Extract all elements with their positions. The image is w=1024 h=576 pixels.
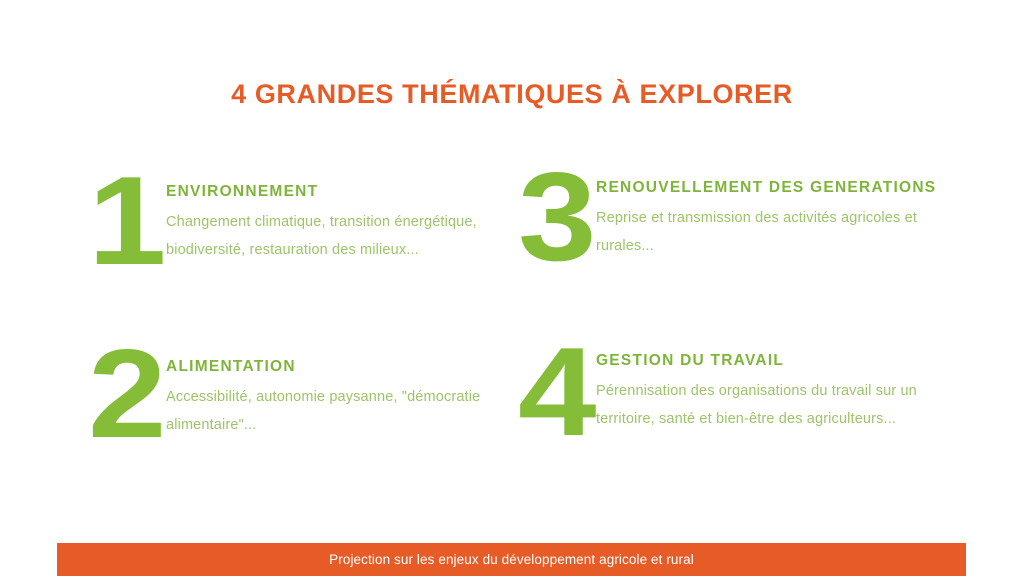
theme-body-4: GESTION DU TRAVAIL Pérennisation des org… [596, 341, 958, 433]
theme-text-2: Accessibilité, autonomie paysanne, "démo… [166, 383, 508, 440]
theme-body-2: ALIMENTATION Accessibilité, autonomie pa… [166, 343, 508, 439]
theme-item-2: 2 ALIMENTATION Accessibilité, autonomie … [88, 343, 508, 443]
theme-number-4: 4 [518, 343, 605, 441]
theme-heading-1: ENVIRONNEMENT [166, 182, 508, 203]
theme-text-1: Changement climatique, transition énergé… [166, 208, 508, 265]
theme-body-3: RENOUVELLEMENT DES GENERATIONS Reprise e… [596, 168, 958, 260]
theme-item-4: 4 GESTION DU TRAVAIL Pérennisation des o… [518, 341, 958, 441]
theme-text-4: Pérennisation des organisations du trava… [596, 377, 958, 434]
footer-text: Projection sur les enjeux du développeme… [329, 553, 694, 567]
theme-item-1: 1 ENVIRONNEMENT Changement climatique, t… [88, 168, 508, 270]
theme-text-3: Reprise et transmission des activités ag… [596, 204, 958, 261]
theme-number-1: 1 [88, 172, 175, 270]
theme-body-1: ENVIRONNEMENT Changement climatique, tra… [166, 168, 508, 264]
theme-number-3: 3 [518, 168, 605, 266]
theme-item-3: 3 RENOUVELLEMENT DES GENERATIONS Reprise… [518, 168, 958, 266]
theme-heading-2: ALIMENTATION [166, 357, 508, 378]
footer-banner: Projection sur les enjeux du développeme… [57, 543, 966, 576]
theme-heading-4: GESTION DU TRAVAIL [596, 351, 958, 372]
slide-canvas: 4 GRANDES THÉMATIQUES À EXPLORER 1 ENVIR… [0, 0, 1024, 576]
theme-number-2: 2 [88, 345, 175, 443]
themes-grid: 1 ENVIRONNEMENT Changement climatique, t… [0, 158, 1024, 508]
theme-heading-3: RENOUVELLEMENT DES GENERATIONS [596, 178, 958, 199]
page-title: 4 GRANDES THÉMATIQUES À EXPLORER [0, 80, 1024, 110]
